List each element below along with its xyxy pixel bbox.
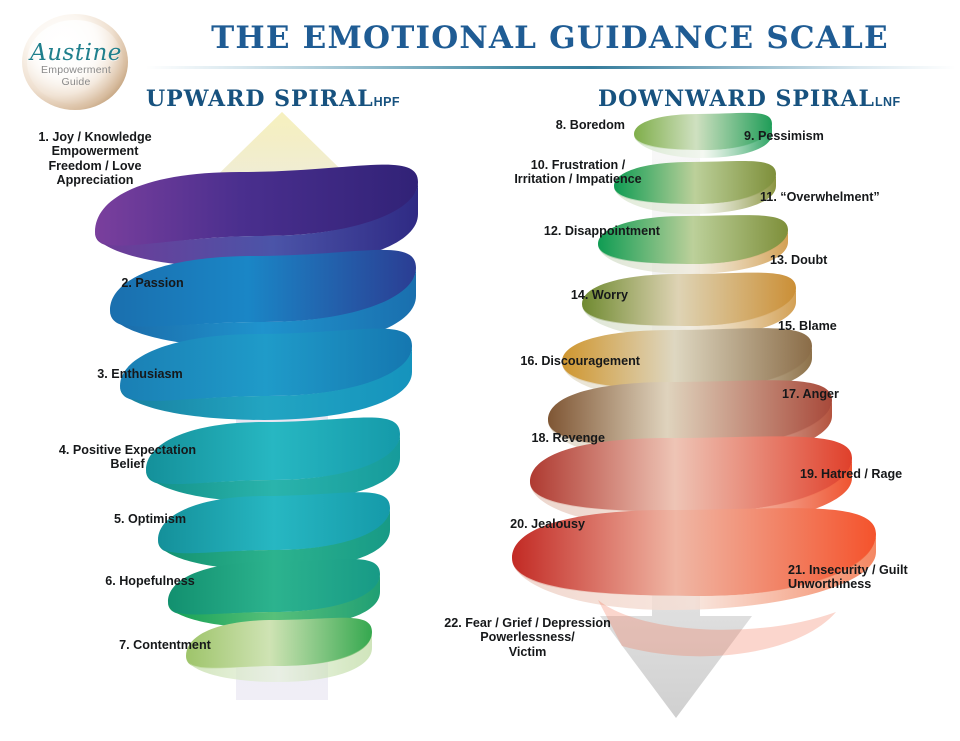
upward-item-4-label: 4. Positive Expectation Belief xyxy=(20,443,235,472)
logo-subtitle-line1: Empowerment xyxy=(24,64,128,76)
downward-item-8-label: 8. Boredom xyxy=(470,118,625,132)
downward-item-20-label: 20. Jealousy xyxy=(410,517,585,531)
upward-spiral-heading: UPWARD SPIRALHPF xyxy=(146,86,400,112)
upward-arrow-shape xyxy=(192,112,372,700)
upward-spiral-heading-text: UPWARD SPIRAL xyxy=(146,86,374,112)
downward-item-16-label: 16. Discouragement xyxy=(448,354,640,368)
page-title: THE EMOTIONAL GUIDANCE SCALE xyxy=(150,20,950,56)
downward-item-9-label: 9. Pessimism xyxy=(744,129,934,143)
upward-spiral-tag: HPF xyxy=(374,95,400,109)
downward-item-12-label: 12. Disappointment xyxy=(455,224,660,238)
downward-spiral-heading: DOWNWARD SPIRALLNF xyxy=(598,86,901,112)
downward-item-22-label: 22. Fear / Grief / Depression Powerlessn… xyxy=(420,616,635,659)
downward-item-21-label: 21. Insecurity / Guilt Unworthiness xyxy=(788,563,960,592)
upward-item-5-label: 5. Optimism xyxy=(60,512,240,526)
infographic-canvas: Austine Empowerment Guide THE EMOTIONAL … xyxy=(0,0,960,741)
logo-subtitle: Empowerment Guide xyxy=(24,64,128,88)
downward-item-19-label: 19. Hatred / Rage xyxy=(800,467,960,481)
downward-item-14-label: 14. Worry xyxy=(478,288,628,302)
logo-subtitle-line2: Guide xyxy=(24,76,128,88)
upward-item-7-label: 7. Contentment xyxy=(70,638,260,652)
downward-item-13-label: 13. Doubt xyxy=(770,253,930,267)
downward-item-18-label: 18. Revenge xyxy=(430,431,605,445)
title-divider xyxy=(146,66,956,69)
downward-spiral-tag: LNF xyxy=(875,95,901,109)
upward-item-1-label: 1. Joy / Knowledge Empowerment Freedom /… xyxy=(10,130,180,188)
downward-item-10-label: 10. Frustration / Irritation / Impatienc… xyxy=(487,158,669,187)
downward-item-17-label: 17. Anger xyxy=(782,387,932,401)
downward-spiral-heading-text: DOWNWARD SPIRAL xyxy=(598,86,875,112)
downward-item-15-label: 15. Blame xyxy=(778,319,928,333)
upward-item-6-label: 6. Hopefulness xyxy=(55,574,245,588)
logo-script-name: Austine xyxy=(24,42,128,65)
upward-spiral-ribbon xyxy=(95,165,418,682)
upward-item-2-label: 2. Passion xyxy=(75,276,230,290)
brand-logo: Austine Empowerment Guide xyxy=(16,12,134,112)
upward-item-3-label: 3. Enthusiasm xyxy=(50,367,230,381)
downward-item-11-label: 11. “Overwhelment” xyxy=(760,190,955,204)
